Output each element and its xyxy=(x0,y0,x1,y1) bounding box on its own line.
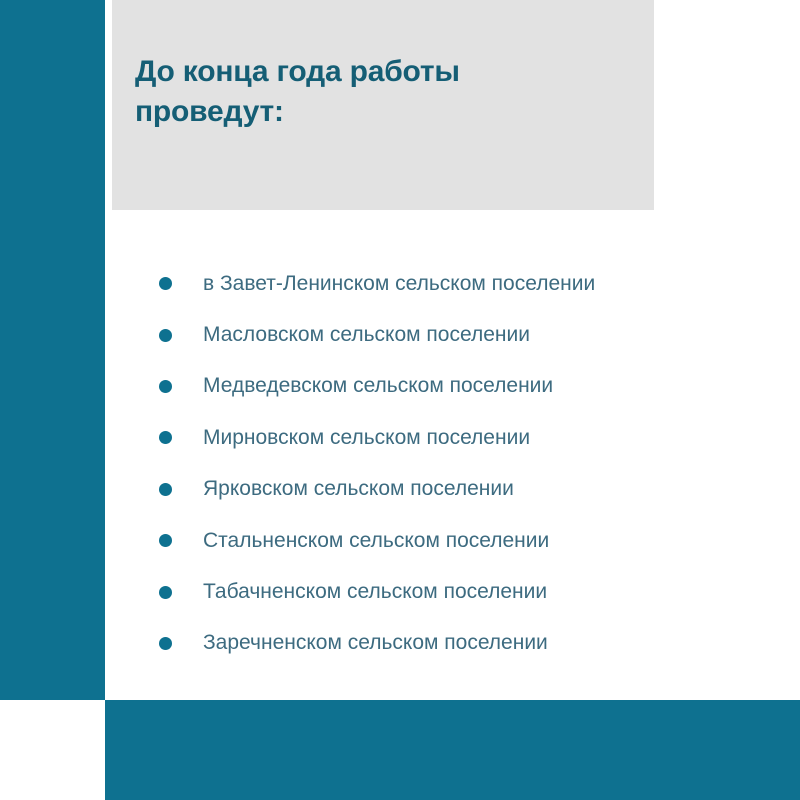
list-item-label: Мирновском сельском поселении xyxy=(203,425,530,451)
list-item-label: Табачненском сельском поселении xyxy=(203,579,547,605)
settlement-list: в Завет-Ленинском сельском поселении Мас… xyxy=(159,258,595,669)
list-item: Заречненском сельском поселении xyxy=(159,618,595,669)
bullet-dot-icon xyxy=(159,329,172,342)
bullet-dot-icon xyxy=(159,277,172,290)
header-panel: До конца года работы проведут: xyxy=(112,0,654,210)
bullet-dot-icon xyxy=(159,534,172,547)
bullet-dot-icon xyxy=(159,637,172,650)
list-item-label: Стальненском сельском поселении xyxy=(203,528,549,554)
list-area: в Завет-Ленинском сельском поселении Мас… xyxy=(112,210,800,700)
bullet-dot-icon xyxy=(159,586,172,599)
list-item: Медведевском сельском поселении xyxy=(159,361,595,412)
bullet-dot-icon xyxy=(159,380,172,393)
bullet-dot-icon xyxy=(159,431,172,444)
list-item-label: Заречненском сельском поселении xyxy=(203,630,548,656)
list-item-label: Ярковском сельском поселении xyxy=(203,476,514,502)
page-title: До конца года работы проведут: xyxy=(135,52,635,132)
list-item: Мирновском сельском поселении xyxy=(159,412,595,463)
bullet-dot-icon xyxy=(159,483,172,496)
bottom-accent-bar xyxy=(105,700,800,800)
list-item-label: Медведевском сельском поселении xyxy=(203,373,553,399)
list-item: Табачненском сельском поселении xyxy=(159,566,595,617)
list-item: Ярковском сельском поселении xyxy=(159,464,595,515)
list-item: в Завет-Ленинском сельском поселении xyxy=(159,258,595,309)
list-item: Масловском сельском поселении xyxy=(159,309,595,360)
list-item-label: в Завет-Ленинском сельском поселении xyxy=(203,271,595,297)
list-item-label: Масловском сельском поселении xyxy=(203,322,530,348)
left-accent-bar xyxy=(0,0,105,700)
list-item: Стальненском сельском поселении xyxy=(159,515,595,566)
infographic-poster: До конца года работы проведут: в Завет-Л… xyxy=(0,0,800,800)
